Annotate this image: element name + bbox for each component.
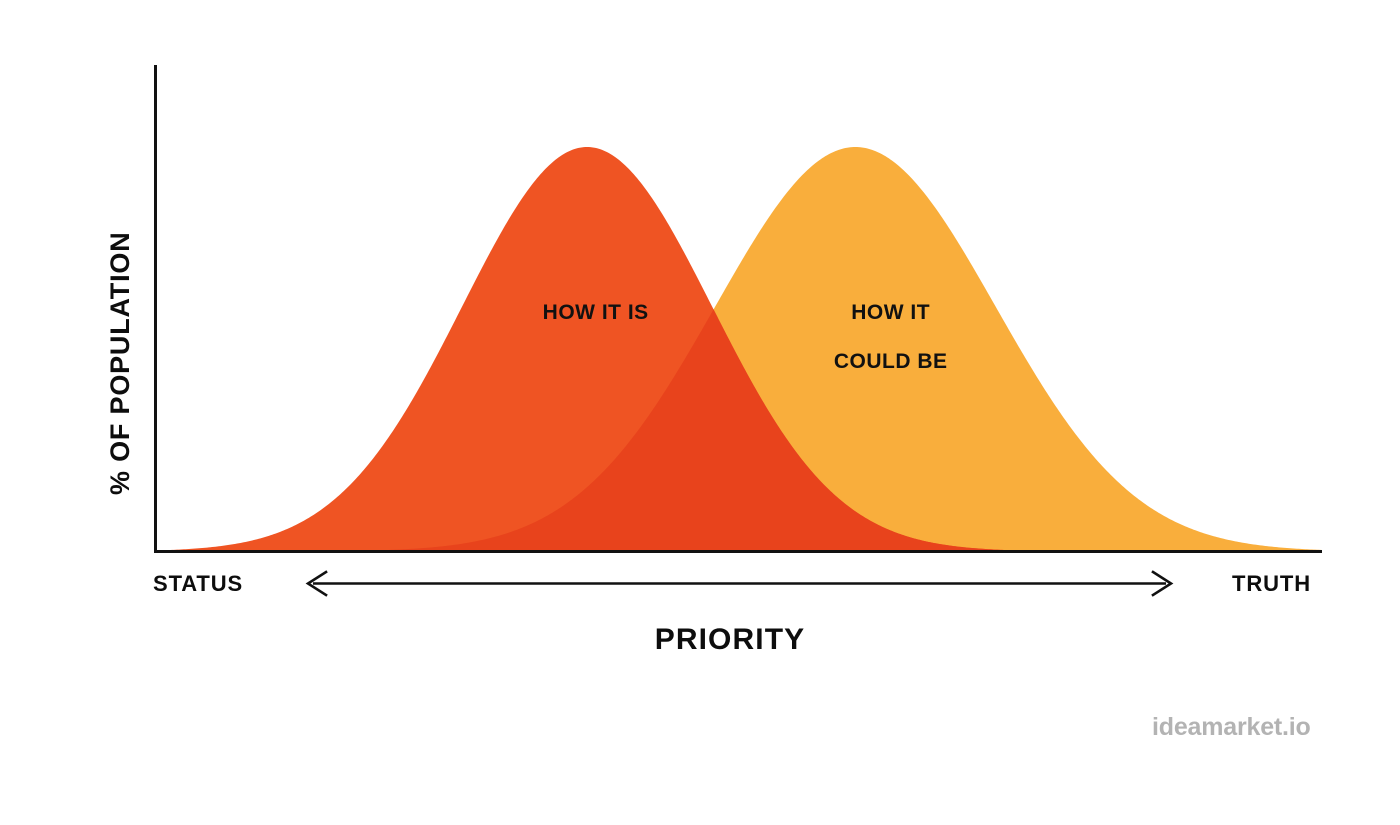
y-axis-title: % OF POPULATION: [105, 75, 137, 495]
series-label-how-it-could-be-line1: HOW IT: [851, 301, 930, 324]
x-axis-start-label: STATUS: [153, 571, 243, 597]
chart-canvas: % OF POPULATION PRIORITY STATUS TRUTH HO…: [0, 0, 1400, 825]
series-label-how-it-could-be: HOW IT COULD BE: [788, 276, 968, 400]
series-label-how-it-could-be-line2: COULD BE: [834, 350, 948, 373]
brand-watermark: ideamarket.io: [1152, 713, 1311, 742]
series-label-how-it-is-text: HOW IT IS: [543, 301, 649, 324]
priority-direction-arrow: [308, 572, 1171, 595]
x-axis-end-label: TRUTH: [1232, 571, 1311, 597]
series-label-how-it-is: HOW IT IS: [483, 276, 683, 350]
distribution-chart-svg: [0, 0, 1400, 825]
x-axis-title: PRIORITY: [30, 622, 1400, 657]
